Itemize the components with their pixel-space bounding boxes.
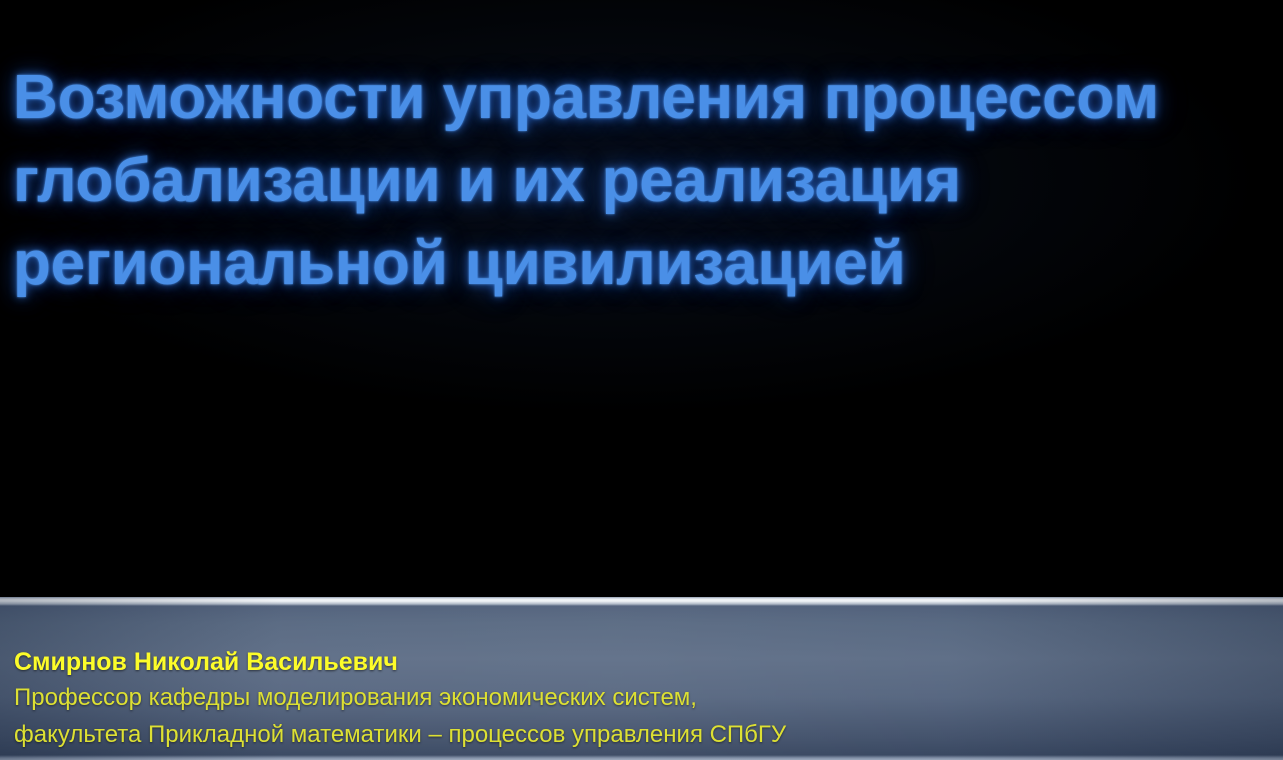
presenter-name: Смирнов Николай Васильевич [14,645,1269,679]
presenter-affiliation-line-2: факультета Прикладной математики – проце… [14,716,1269,753]
title-line-3: региональной цивилизацией [13,222,1268,305]
title-line-2: глобализации и их реализация [13,139,1268,222]
presenter-info: Смирнов Николай Васильевич Профессор каф… [14,645,1269,753]
slide-title: Возможности управления процессом глобали… [13,56,1268,305]
title-line-1: Возможности управления процессом [13,56,1268,139]
presentation-slide: Возможности управления процессом глобали… [0,0,1283,760]
slide-title-area: Возможности управления процессом глобали… [0,0,1283,597]
presenter-footer-band: Смирнов Николай Васильевич Профессор каф… [0,597,1283,760]
presenter-affiliation-line-1: Профессор кафедры моделирования экономич… [14,679,1269,716]
